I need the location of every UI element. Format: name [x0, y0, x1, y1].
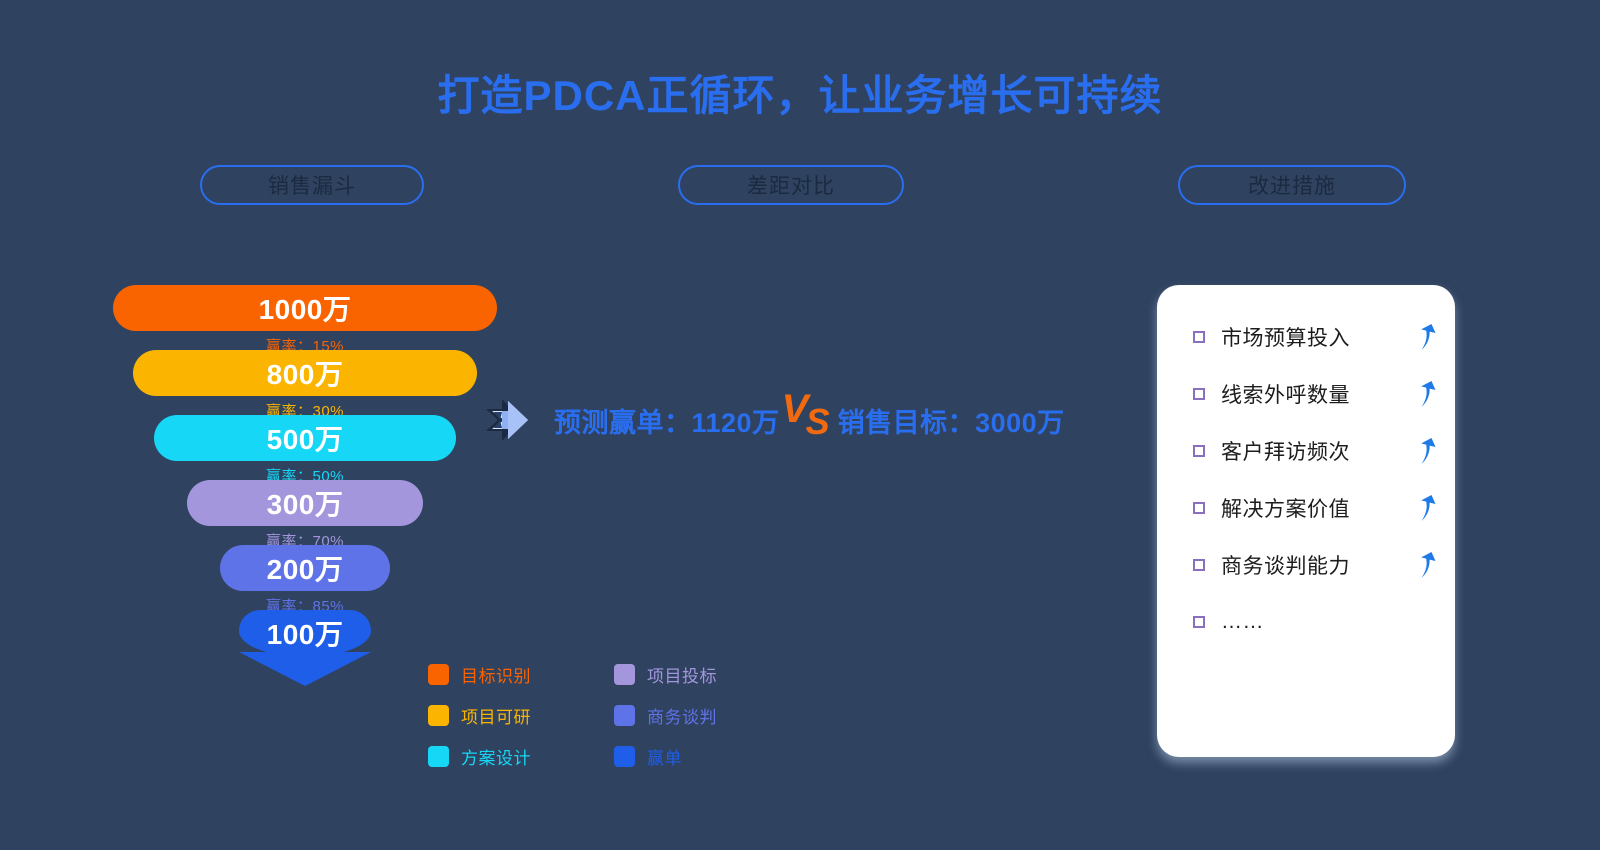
- legend-label: 商务谈判: [647, 703, 717, 728]
- funnel-stage-value: 800万: [267, 353, 344, 393]
- funnel-stage-bar: 1000万: [113, 285, 497, 331]
- right-arrow-icon: [478, 389, 544, 451]
- funnel-stage-bar: 200万: [220, 545, 390, 591]
- improvement-actions-card: 市场预算投入线索外呼数量客户拜访频次解决方案价值商务谈判能力……: [1157, 285, 1455, 757]
- funnel-stage-value: 100万: [267, 613, 344, 653]
- legend-color-swatch: [614, 664, 635, 685]
- legend-item: 商务谈判: [614, 703, 762, 728]
- trend-up-arrow-icon: [1417, 379, 1437, 409]
- trend-up-arrow-icon: [1417, 322, 1437, 352]
- square-bullet-icon: [1193, 331, 1205, 343]
- funnel-stage-value: 1000万: [259, 288, 352, 328]
- legend-label: 方案设计: [461, 744, 531, 769]
- page-title: 打造PDCA正循环，让业务增长可持续: [0, 62, 1600, 123]
- section-header-actions: 改进措施: [1178, 165, 1406, 205]
- legend-color-swatch: [428, 746, 449, 767]
- sales-target-value: 销售目标：3000万: [838, 401, 1065, 440]
- square-bullet-icon: [1193, 388, 1205, 400]
- vs-v-letter: V: [782, 387, 809, 432]
- funnel-stage-bar: 500万: [154, 415, 456, 461]
- legend-color-swatch: [428, 664, 449, 685]
- action-list-item[interactable]: ……: [1193, 608, 1437, 636]
- funnel-stage-bar: 800万: [133, 350, 477, 396]
- action-label: 线索外呼数量: [1221, 379, 1413, 409]
- legend-label: 项目可研: [461, 703, 531, 728]
- action-list-item[interactable]: 解决方案价值: [1193, 494, 1437, 522]
- action-list-item[interactable]: 线索外呼数量: [1193, 380, 1437, 408]
- legend-label: 目标识别: [461, 662, 531, 687]
- action-label: 市场预算投入: [1221, 322, 1413, 352]
- gap-comparison: 预测赢单：1120万 V S 销售目标：3000万: [478, 388, 1065, 452]
- forecast-win-value: 预测赢单：1120万: [554, 401, 780, 440]
- funnel-stage-value: 200万: [267, 548, 344, 588]
- actions-list: 市场预算投入线索外呼数量客户拜访频次解决方案价值商务谈判能力……: [1193, 323, 1437, 665]
- action-label: 商务谈判能力: [1221, 550, 1413, 580]
- legend-item: 项目可研: [428, 703, 576, 728]
- action-label: 客户拜访频次: [1221, 436, 1413, 466]
- trend-up-arrow-icon: [1417, 436, 1437, 466]
- legend-item: 项目投标: [614, 662, 762, 687]
- action-list-item[interactable]: 市场预算投入: [1193, 323, 1437, 351]
- vs-s-letter: S: [806, 401, 830, 443]
- legend-label: 赢单: [647, 744, 682, 769]
- action-label: ……: [1221, 610, 1437, 634]
- section-header-gap: 差距对比: [678, 165, 904, 205]
- funnel-stage-value: 300万: [267, 483, 344, 523]
- square-bullet-icon: [1193, 559, 1205, 571]
- funnel-legend: 目标识别项目投标项目可研商务谈判方案设计赢单: [428, 662, 762, 769]
- legend-color-swatch: [614, 705, 635, 726]
- vs-badge: V S: [780, 395, 838, 445]
- trend-up-arrow-icon: [1417, 550, 1437, 580]
- legend-color-swatch: [428, 705, 449, 726]
- funnel-stage-bar: 100万: [239, 610, 371, 656]
- funnel-stage-value: 500万: [267, 418, 344, 458]
- trend-up-arrow-icon: [1417, 493, 1437, 523]
- action-label: 解决方案价值: [1221, 493, 1413, 523]
- action-list-item[interactable]: 客户拜访频次: [1193, 437, 1437, 465]
- square-bullet-icon: [1193, 616, 1205, 628]
- legend-label: 项目投标: [647, 662, 717, 687]
- square-bullet-icon: [1193, 502, 1205, 514]
- funnel-stage-bar: 300万: [187, 480, 423, 526]
- legend-item: 方案设计: [428, 744, 576, 769]
- legend-color-swatch: [614, 746, 635, 767]
- action-list-item[interactable]: 商务谈判能力: [1193, 551, 1437, 579]
- funnel-bottom-tip: [239, 652, 371, 686]
- square-bullet-icon: [1193, 445, 1205, 457]
- section-header-funnel: 销售漏斗: [200, 165, 424, 205]
- legend-item: 赢单: [614, 744, 762, 769]
- legend-item: 目标识别: [428, 662, 576, 687]
